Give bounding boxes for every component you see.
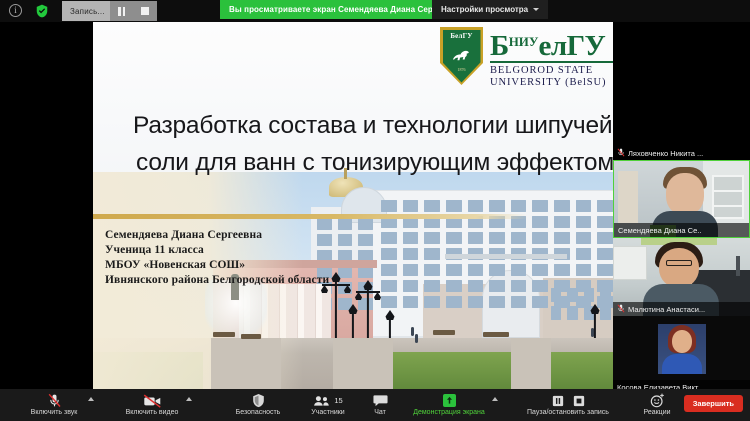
logo-subtitle-line-1: BELGOROD STATE: [490, 65, 628, 78]
share-screen-icon: [443, 394, 456, 408]
logo-wordmark: БНИУелГУ BELGOROD STATE UNIVERSITY (BelS…: [490, 27, 628, 90]
unmute-audio-label: Включить звук: [31, 409, 78, 417]
chat-icon: [373, 394, 388, 408]
logo-subtitle-line-2: UNIVERSITY (BelSU): [490, 77, 628, 90]
participant-name-2: Малютина Анастаси...: [628, 305, 705, 314]
share-screen-button[interactable]: Демонстрация экрана: [398, 391, 500, 419]
mic-muted-icon: [617, 148, 625, 159]
pedestrian-2: [415, 334, 418, 343]
unmute-audio-button[interactable]: Включить звук: [8, 391, 100, 419]
logo-niu: НИУ: [509, 34, 539, 49]
bench-3: [433, 330, 455, 335]
start-video-label: Включить видео: [126, 409, 179, 417]
participants-icon: 15: [313, 394, 342, 408]
mic-muted-icon: [46, 394, 63, 408]
bench-1: [213, 332, 235, 337]
video-options-chevron-icon[interactable]: [186, 397, 192, 401]
logo-el: ел: [538, 30, 566, 62]
pedestrian-1: [411, 327, 414, 336]
participant-tile-0[interactable]: Ляховченко Никита ...: [613, 82, 750, 160]
gold-accent-bar: [93, 214, 528, 219]
screen-share-banner-text: Вы просматриваете экран Семендяева Диана…: [229, 5, 460, 14]
security-label: Безопасность: [236, 409, 281, 417]
author-block: Семендяева Диана Сергеевна Ученица 11 кл…: [105, 228, 329, 288]
bench-4: [483, 332, 509, 337]
reactions-label: Реакции: [643, 409, 670, 417]
participant-tile-1[interactable]: Семендяева Диана Се..: [613, 160, 750, 238]
pause-stop-recording-button[interactable]: Пауза/остановить запись: [508, 391, 628, 419]
logo-main-text: БНИУелГУ: [490, 28, 628, 60]
participant-name-bar-0: Ляховченко Никита ...: [613, 146, 750, 160]
bench-2: [241, 334, 261, 339]
author-region: Ивнянского района Белгородской области: [105, 273, 329, 288]
lamp-post-short-3: [585, 304, 605, 338]
page-title: Разработка состава и технологии шипучей …: [133, 107, 640, 181]
meeting-toolbar: Включить звук Включить видео Безопасност…: [0, 389, 750, 421]
pegasus-icon: [449, 46, 475, 69]
shared-screen-slide: Семендяева Диана Сергеевна Ученица 11 кл…: [93, 22, 640, 389]
reactions-button[interactable]: Реакции: [628, 391, 686, 419]
security-button[interactable]: Безопасность: [218, 391, 298, 419]
participants-button[interactable]: 15 Участники: [292, 391, 364, 419]
shield-icon[interactable]: [34, 3, 49, 18]
chat-label: Чат: [374, 409, 386, 417]
recording-label: Запись...: [70, 7, 105, 16]
share-options-chevron-icon[interactable]: [492, 397, 498, 401]
participant-name-0: Ляховченко Никита ...: [628, 149, 703, 158]
mic-muted-icon: [617, 304, 625, 315]
stop-recording-button[interactable]: [136, 1, 154, 21]
shield-label: БелГУ: [440, 32, 483, 40]
share-screen-label: Демонстрация экрана: [413, 409, 485, 417]
recording-controls: [110, 1, 157, 21]
author-school: МБОУ «Новенская СОШ»: [105, 258, 329, 273]
top-bar: i Запись... Вы просматриваете экран Семе…: [0, 0, 750, 22]
participant-name-bar-1: Семендяева Диана Се..: [614, 223, 749, 237]
reactions-icon: [650, 394, 665, 408]
shield-icon: [251, 394, 266, 408]
author-name: Семендяева Диана Сергеевна: [105, 228, 329, 243]
audio-options-chevron-icon[interactable]: [88, 397, 94, 401]
walkway-right: [511, 338, 551, 389]
lamp-post-short-1: [343, 304, 363, 338]
logo-gu: ГУ: [567, 30, 606, 62]
chat-button[interactable]: Чат: [356, 391, 404, 419]
view-options-button[interactable]: Настройки просмотра: [432, 0, 548, 19]
pause-recording-button[interactable]: [113, 1, 131, 21]
lamp-post-short-2: [381, 310, 399, 338]
slide-title-line-1: Разработка состава и технологии шипучей: [133, 107, 640, 144]
building-signboard: [445, 254, 567, 259]
belgu-shield-icon: БелГУ 1876: [440, 27, 483, 85]
participant-video-strip: Ляховченко Никита ... Семендяева Диана С…: [613, 22, 750, 389]
zoom-meeting-window: i Запись... Вы просматриваете экран Семе…: [0, 0, 750, 421]
slide-title-line-2: соли для ванн с тонизирующим эффектом: [136, 144, 640, 181]
walkway-left: [211, 338, 281, 389]
participant-tile-3[interactable]: Косова Елизавета Викт...: [613, 316, 750, 394]
start-video-button[interactable]: Включить видео: [104, 391, 200, 419]
video-muted-icon: [143, 394, 162, 408]
author-grade: Ученица 11 класса: [105, 243, 329, 258]
pause-stop-recording-label: Пауза/остановить запись: [527, 409, 609, 417]
shield-year: 1876: [440, 67, 483, 72]
info-icon[interactable]: i: [8, 3, 23, 18]
pause-stop-icon: [552, 394, 585, 408]
end-meeting-button[interactable]: Завершить: [684, 395, 743, 412]
walkway-center: [333, 338, 393, 389]
lawn-center: [393, 352, 513, 389]
participant-tile-2[interactable]: Малютина Анастаси...: [613, 238, 750, 316]
participant-name-bar-2: Малютина Анастаси...: [613, 302, 750, 316]
belgu-logo: БелГУ 1876 БНИУелГУ BELGOROD STATE UNIVE…: [440, 27, 628, 90]
view-options-label: Настройки просмотра: [441, 5, 528, 14]
participant-name-1: Семендяева Диана Се..: [618, 226, 701, 235]
chevron-down-icon: [533, 8, 539, 11]
avatar: [658, 324, 706, 374]
participants-label: Участники: [311, 409, 344, 417]
logo-b: Б: [490, 30, 509, 62]
participants-count: 15: [334, 396, 342, 405]
